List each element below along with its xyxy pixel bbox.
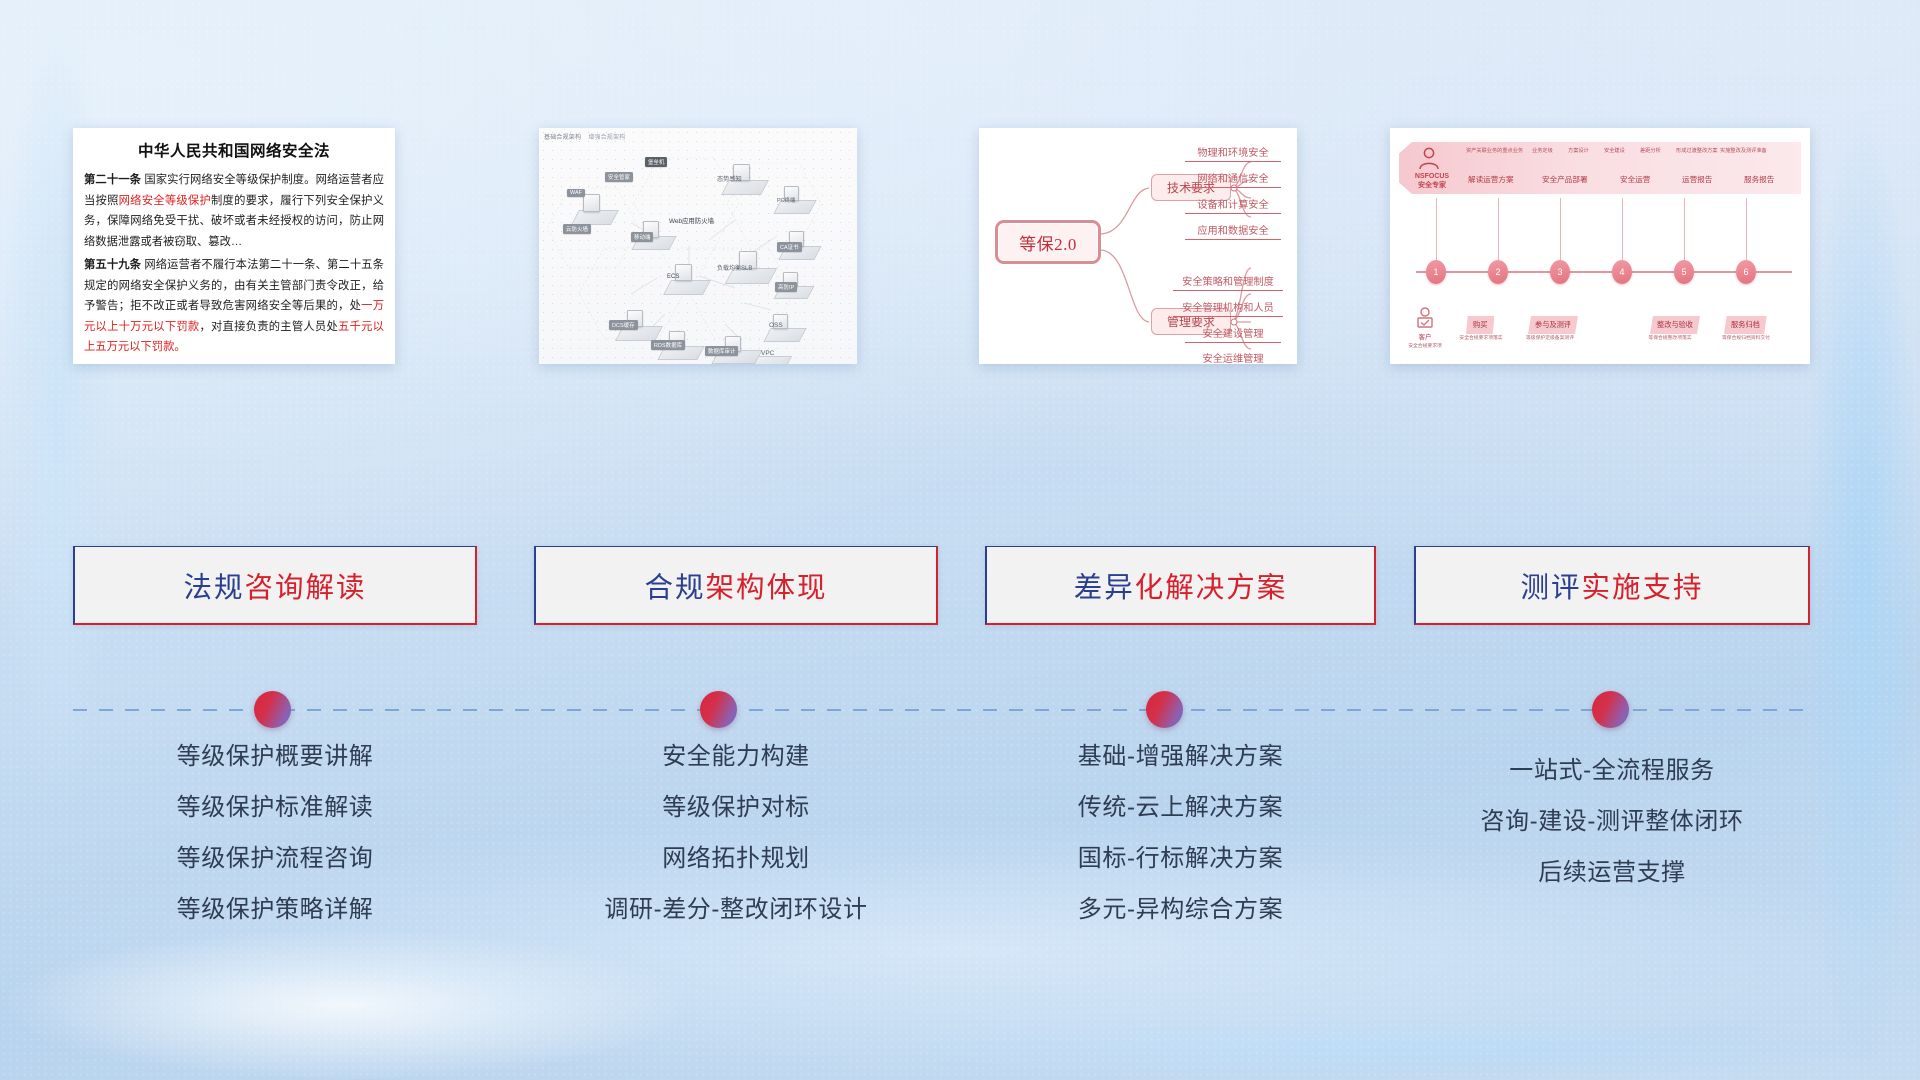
section-header-1-blue: 法规 bbox=[183, 572, 244, 604]
law-title: 中华人民共和国网络安全法 bbox=[73, 139, 395, 161]
section-header-1[interactable]: 法规咨询解读 bbox=[73, 546, 477, 625]
roadmap-tick bbox=[1560, 198, 1561, 260]
list-item[interactable]: 等级保护策略详解 bbox=[73, 898, 477, 922]
roadmap-tag-sub: 等级保护定级备案测评 bbox=[1512, 334, 1588, 341]
law-paragraph: 第二十一条 国家实行网络安全等级保护制度。网络运营者应当按照网络安全等级保护制度… bbox=[84, 170, 384, 252]
roadmap-logo-line1: NSFOCUS bbox=[1404, 172, 1460, 181]
roadmap-step-number[interactable]: 1 bbox=[1426, 260, 1446, 284]
architecture-node-label: DCS缓存 bbox=[609, 320, 638, 330]
architecture-node-label: 移动端 bbox=[631, 232, 653, 242]
roadmap-top-label: 实施整改及测评准备 bbox=[1720, 147, 1767, 154]
architecture-node-label-vpc: VPC bbox=[761, 350, 774, 357]
timeline-dot-2[interactable] bbox=[700, 691, 737, 728]
list-item[interactable]: 传统-云上解决方案 bbox=[985, 796, 1376, 820]
roadmap-canvas: NSFOCUS 安全专家 资产关联业务的重点业务 业务定级 方案设计 安全建设 … bbox=[1390, 128, 1810, 364]
timeline-dot-4[interactable] bbox=[1592, 691, 1629, 728]
roadmap-tag[interactable]: 参与及测评 bbox=[1528, 316, 1578, 334]
timeline-dot-1[interactable] bbox=[254, 691, 291, 728]
list-item[interactable]: 等级保护对标 bbox=[534, 796, 938, 820]
architecture-node-label-ecs: ECS bbox=[667, 274, 679, 280]
mindmap-leaf[interactable]: 网络和通信安全 bbox=[1185, 170, 1281, 188]
timeline-dashed-line bbox=[73, 709, 1810, 711]
list-item[interactable]: 等级保护流程咨询 bbox=[73, 847, 477, 871]
architecture-canvas: 基础合规架构增强合规架构 bbox=[539, 128, 857, 364]
roadmap-cell: 安全运营 bbox=[1620, 174, 1650, 185]
section-header-2[interactable]: 合规架构体现 bbox=[534, 546, 938, 625]
roadmap-top-label: 差距分析 bbox=[1640, 147, 1661, 154]
architecture-node-label: WAF bbox=[567, 189, 585, 197]
roadmap-tag[interactable]: 服务归档 bbox=[1724, 316, 1767, 334]
timeline-dot-3[interactable] bbox=[1146, 691, 1183, 728]
roadmap-top-label: 资产关联业务的重点业务 bbox=[1466, 147, 1523, 154]
mindmap-leaf[interactable]: 安全运维管理 bbox=[1185, 350, 1281, 364]
architecture-node-label-guard: 安全管家 bbox=[605, 172, 633, 182]
list-item[interactable]: 网络拓扑规划 bbox=[534, 847, 938, 871]
mindmap-leaf[interactable]: 设备和计算安全 bbox=[1185, 196, 1281, 214]
architecture-node-label-slb: 负载均衡SLB bbox=[717, 263, 752, 272]
law-paragraph: 第五十九条 网络运营者不履行本法第二十一条、第二十五条规定的网络安全保护义务的，… bbox=[84, 255, 384, 358]
detail-list-2: 安全能力构建 等级保护对标 网络拓扑规划 调研-差分-整改闭环设计 bbox=[534, 745, 938, 949]
mindmap-leaf[interactable]: 安全管理机构和人员 bbox=[1173, 299, 1283, 317]
architecture-node-box bbox=[583, 194, 600, 212]
roadmap-step-number[interactable]: 6 bbox=[1736, 260, 1756, 284]
roadmap-top-label: 业务定级 bbox=[1532, 147, 1553, 154]
section-header-row: 法规咨询解读 合规架构体现 差异化解决方案 测评实施支持 bbox=[0, 546, 1920, 626]
roadmap-step-number[interactable]: 4 bbox=[1612, 260, 1632, 284]
roadmap-tick bbox=[1746, 198, 1747, 260]
roadmap-top-label: 形成过渡整改方案 bbox=[1676, 147, 1718, 154]
section-header-2-red: 架构体现 bbox=[706, 572, 828, 604]
list-item[interactable]: 咨询-建设-测评整体闭环 bbox=[1414, 810, 1810, 834]
section-header-4-title: 测评实施支持 bbox=[1520, 565, 1703, 606]
architecture-node-label-pc: PC终端 bbox=[777, 196, 795, 204]
section-header-4-blue: 测评 bbox=[1520, 572, 1581, 604]
roadmap-tick bbox=[1436, 198, 1437, 260]
section-detail-lists: 等级保护概要讲解 等级保护标准解读 等级保护流程咨询 等级保护策略详解 安全能力… bbox=[0, 745, 1920, 905]
roadmap-tag[interactable]: 购买 bbox=[1466, 316, 1494, 334]
law-text-highlight: 网络安全等级保护 bbox=[119, 195, 211, 207]
roadmap-step-number[interactable]: 5 bbox=[1674, 260, 1694, 284]
architecture-platform bbox=[763, 328, 806, 342]
list-item[interactable]: 安全能力构建 bbox=[534, 745, 938, 769]
detail-list-1: 等级保护概要讲解 等级保护标准解读 等级保护流程咨询 等级保护策略详解 bbox=[73, 745, 477, 949]
section-header-4[interactable]: 测评实施支持 bbox=[1414, 546, 1810, 625]
list-item[interactable]: 等级保护概要讲解 bbox=[73, 745, 477, 769]
card-mindmap-dengbao[interactable]: 等保2.0 技术要求 管理要求 物理和环境安全 网络和通信安全 设备和计算安全 … bbox=[979, 128, 1297, 364]
mindmap-leaf[interactable]: 应用和数据安全 bbox=[1185, 222, 1281, 240]
card-cybersecurity-law[interactable]: 中华人民共和国网络安全法 第二十一条 国家实行网络安全等级保护制度。网络运营者应… bbox=[73, 128, 395, 364]
section-header-3-red: 化解决方案 bbox=[1135, 572, 1288, 604]
law-article-number: 第五十九条 bbox=[84, 259, 141, 271]
law-article-number: 第二十一条 bbox=[84, 174, 141, 186]
list-item[interactable]: 一站式-全流程服务 bbox=[1414, 759, 1810, 783]
customer-icon bbox=[1412, 306, 1438, 330]
roadmap-cell: 服务报告 bbox=[1744, 174, 1774, 185]
section-header-1-red: 咨询解读 bbox=[245, 572, 367, 604]
architecture-node-label-bastion: 堡垒机 bbox=[645, 157, 667, 167]
architecture-node-label: RDS数据库 bbox=[651, 340, 685, 350]
architecture-node-label-situation: 态势感知 bbox=[717, 174, 742, 183]
roadmap-step-number[interactable]: 3 bbox=[1550, 260, 1570, 284]
section-header-3[interactable]: 差异化解决方案 bbox=[985, 546, 1376, 625]
mindmap-leaf[interactable]: 物理和环境安全 bbox=[1185, 144, 1281, 162]
roadmap-logo: NSFOCUS 安全专家 bbox=[1404, 172, 1460, 190]
roadmap-tick bbox=[1684, 198, 1685, 260]
roadmap-tick bbox=[1622, 198, 1623, 260]
list-item[interactable]: 多元-异构综合方案 bbox=[985, 898, 1376, 922]
law-body: 第二十一条 国家实行网络安全等级保护制度。网络运营者应当按照网络安全等级保护制度… bbox=[73, 170, 395, 358]
mindmap-leaf[interactable]: 安全策略和管理制度 bbox=[1173, 273, 1283, 291]
section-header-3-blue: 差异 bbox=[1074, 572, 1135, 604]
list-item[interactable]: 等级保护标准解读 bbox=[73, 796, 477, 820]
law-text-segment: ，对直接负责的主管人员处 bbox=[199, 321, 338, 333]
roadmap-cell: 运营报告 bbox=[1682, 174, 1712, 185]
roadmap-top-label: 安全建设 bbox=[1604, 147, 1625, 154]
list-item[interactable]: 调研-差分-整改闭环设计 bbox=[534, 898, 938, 922]
section-header-2-title: 合规架构体现 bbox=[644, 565, 827, 606]
roadmap-customer-sub: 安全合规要求项 bbox=[1396, 342, 1454, 349]
roadmap-cell: 解读运营方案 bbox=[1468, 174, 1514, 185]
architecture-node-label: 高防IP bbox=[775, 282, 797, 292]
detail-list-4: 一站式-全流程服务 咨询-建设-测评整体闭环 后续运营支撑 bbox=[1414, 759, 1810, 912]
architecture-node-label: 数据库审计 bbox=[705, 346, 738, 356]
mindmap-canvas: 等保2.0 技术要求 管理要求 物理和环境安全 网络和通信安全 设备和计算安全 … bbox=[979, 128, 1297, 364]
expert-icon bbox=[1414, 146, 1444, 172]
list-item[interactable]: 基础-增强解决方案 bbox=[985, 745, 1376, 769]
list-item[interactable]: 国标-行标解决方案 bbox=[985, 847, 1376, 871]
list-item[interactable]: 后续运营支撑 bbox=[1414, 861, 1810, 885]
card-service-roadmap[interactable]: NSFOCUS 安全专家 资产关联业务的重点业务 业务定级 方案设计 安全建设 … bbox=[1390, 128, 1810, 364]
roadmap-tick bbox=[1498, 198, 1499, 260]
architecture-node-label: CA证书 bbox=[777, 242, 802, 252]
mindmap-root-node[interactable]: 等保2.0 bbox=[995, 220, 1101, 264]
section-header-1-title: 法规咨询解读 bbox=[183, 565, 366, 606]
roadmap-tag-sub: 等保合规归档资料交付 bbox=[1708, 334, 1784, 341]
section-header-3-title: 差异化解决方案 bbox=[1074, 565, 1288, 606]
card-row: 中华人民共和国网络安全法 第二十一条 国家实行网络安全等级保护制度。网络运营者应… bbox=[0, 128, 1920, 368]
architecture-node-label-oss: OSS bbox=[769, 322, 783, 329]
timeline bbox=[0, 700, 1920, 720]
roadmap-logo-line2: 安全专家 bbox=[1404, 181, 1460, 190]
section-header-4-red: 实施支持 bbox=[1582, 572, 1704, 604]
roadmap-tag-sub: 安全合规要求项落实 bbox=[1452, 334, 1510, 341]
architecture-node-label-waf: Web应用防火墙 bbox=[669, 216, 714, 225]
roadmap-tag[interactable]: 整改与验收 bbox=[1650, 316, 1700, 334]
roadmap-cell: 安全产品部署 bbox=[1542, 174, 1588, 185]
section-header-2-blue: 合规 bbox=[644, 572, 705, 604]
roadmap-customer-label: 客户 bbox=[1402, 332, 1448, 341]
card-cloud-architecture[interactable]: 基础合规架构增强合规架构 bbox=[539, 128, 857, 364]
roadmap-step-number[interactable]: 2 bbox=[1488, 260, 1508, 284]
roadmap-top-label: 方案设计 bbox=[1568, 147, 1589, 154]
mindmap-leaf[interactable]: 安全建设管理 bbox=[1185, 325, 1281, 343]
detail-list-3: 基础-增强解决方案 传统-云上解决方案 国标-行标解决方案 多元-异构综合方案 bbox=[985, 745, 1376, 949]
architecture-platform bbox=[752, 356, 792, 364]
roadmap-tag-sub: 等保合规整改项落实 bbox=[1634, 334, 1706, 341]
architecture-platform bbox=[663, 280, 711, 295]
architecture-platform bbox=[571, 210, 619, 225]
architecture-node-label: 云防火墙 bbox=[563, 224, 591, 234]
